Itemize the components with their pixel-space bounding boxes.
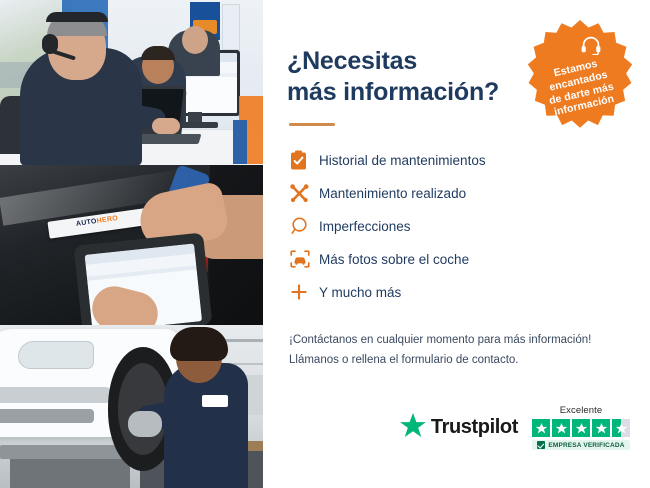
list-item: Historial de mantenimientos	[289, 144, 628, 176]
list-item-label: Y mucho más	[319, 285, 401, 300]
mechanic-tire-inspection-photo	[0, 325, 263, 488]
star-half-5	[612, 419, 630, 437]
list-item: Y mucho más	[289, 276, 628, 308]
trustpilot-rating-label: Excelente	[560, 405, 603, 416]
trustpilot-star-icon	[400, 413, 426, 443]
car-grille-upper	[0, 387, 110, 403]
list-item-label: Historial de mantenimientos	[319, 153, 486, 168]
star-filled-3	[572, 419, 590, 437]
mechanic-glove	[128, 411, 162, 437]
list-item: Más fotos sobre el coche	[289, 243, 628, 275]
mechanic-hair	[170, 327, 228, 361]
car-lift-base	[10, 459, 130, 488]
contact-text: ¡Contáctanos en cualquier momento para m…	[289, 330, 628, 370]
trustpilot-rating[interactable]: Trustpilot Excelente EMPRESA VERIFICADA	[400, 405, 630, 450]
verified-check-icon	[537, 441, 545, 449]
trustpilot-wordmark: Trustpilot	[431, 416, 518, 439]
star-rating	[532, 419, 630, 437]
wall-poster-secondary	[222, 4, 240, 50]
status-badge: Estamos encantados de darte más informac…	[524, 18, 636, 130]
call-center-agents-photo	[0, 0, 263, 165]
verified-company-badge: EMPRESA VERIFICADA	[532, 440, 629, 450]
list-item-label: Más fotos sobre el coche	[319, 252, 469, 267]
agent-foreground-hand	[152, 118, 180, 134]
star-filled-4	[592, 419, 610, 437]
headline-line-2: más información?	[287, 78, 499, 106]
title-divider	[289, 123, 335, 126]
car-grille-lower	[0, 409, 94, 423]
ruler-brand-hero: HERO	[96, 215, 118, 225]
contact-line-1: ¡Contáctanos en cualquier momento para m…	[289, 334, 591, 346]
ruler-brand-text: AUTOHERO	[76, 215, 119, 228]
list-item-label: Mantenimiento realizado	[319, 186, 466, 201]
headset-band	[46, 12, 108, 22]
car-focus-frame-icon	[289, 249, 319, 269]
ruler-brand-auto: AUTO	[76, 218, 98, 228]
content-panel: ¿Necesitas más información? Historial de…	[263, 0, 650, 488]
information-promo-card: AUTOHERO	[0, 0, 650, 488]
car-headlight	[18, 341, 94, 369]
photo-collage: AUTOHERO	[0, 0, 263, 488]
trustpilot-score-block: Excelente EMPRESA VERIFICADA	[532, 405, 630, 450]
magnifier-icon	[289, 216, 319, 236]
agent-background-head	[182, 26, 208, 54]
blue-equipment	[233, 120, 247, 164]
list-item-label: Imperfecciones	[319, 219, 411, 234]
star-filled-2	[552, 419, 570, 437]
contact-line-2: Llámanos o rellena el formulario de cont…	[289, 354, 519, 366]
tools-cross-icon	[289, 183, 319, 204]
verified-label: EMPRESA VERIFICADA	[548, 442, 624, 449]
plus-icon	[289, 282, 319, 302]
uniform-logo-patch	[202, 395, 228, 407]
feature-list: Historial de mantenimientos M	[289, 144, 628, 308]
trustpilot-logo[interactable]: Trustpilot	[400, 413, 518, 443]
headline-line-1: ¿Necesitas	[287, 47, 417, 75]
car-inspection-ruler-tablet-photo: AUTOHERO	[0, 165, 263, 325]
list-item: Mantenimiento realizado	[289, 177, 628, 209]
list-item: Imperfecciones	[289, 210, 628, 242]
clipboard-check-icon	[289, 150, 319, 171]
star-filled-1	[532, 419, 550, 437]
